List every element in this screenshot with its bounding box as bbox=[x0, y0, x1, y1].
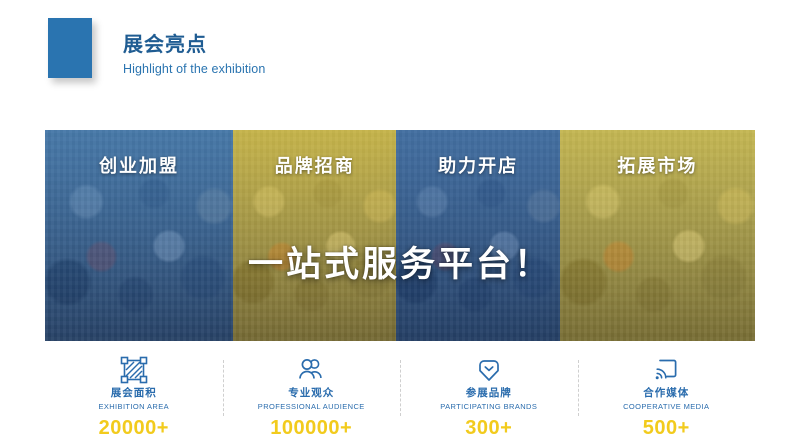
stat-label-en: EXHIBITION AREA bbox=[98, 402, 169, 412]
stat-participating-brands[interactable]: 参展品牌 PARTICIPATING BRANDS 300+ bbox=[400, 356, 578, 438]
highlight-panel-1[interactable]: 创业加盟 bbox=[45, 130, 233, 341]
stat-value: 20000+ bbox=[99, 416, 169, 440]
page-subtitle: Highlight of the exhibition bbox=[123, 60, 265, 78]
stat-label-en: PARTICIPATING BRANDS bbox=[440, 402, 537, 412]
highlight-panel-3[interactable]: 助力开店 bbox=[396, 130, 559, 341]
slide-root: 展会亮点 Highlight of the exhibition 创业加盟 品牌… bbox=[0, 0, 800, 448]
highlight-image-band: 创业加盟 品牌招商 助力开店 拓展市场 一站式服务平台！ bbox=[45, 130, 755, 341]
stat-label-cn: 合作媒体 bbox=[643, 387, 689, 400]
panel-label-4: 拓展市场 bbox=[560, 152, 755, 178]
participating-brands-icon bbox=[475, 356, 503, 384]
header-accent-bar bbox=[48, 18, 92, 78]
panel-label-1: 创业加盟 bbox=[45, 152, 233, 178]
stat-label-cn: 专业观众 bbox=[288, 387, 334, 400]
stat-professional-audience[interactable]: 专业观众 PROFESSIONAL AUDIENCE 100000+ bbox=[223, 356, 401, 438]
highlight-panel-2[interactable]: 品牌招商 bbox=[233, 130, 396, 341]
stats-row: 展会面积 EXHIBITION AREA 20000+ 专业观众 PROFESS… bbox=[45, 356, 755, 438]
stat-value: 300+ bbox=[465, 416, 512, 440]
panel-label-2: 品牌招商 bbox=[233, 152, 396, 178]
exhibition-area-icon bbox=[120, 356, 148, 384]
stat-label-cn: 展会面积 bbox=[111, 387, 157, 400]
stat-exhibition-area[interactable]: 展会面积 EXHIBITION AREA 20000+ bbox=[45, 356, 223, 438]
stat-cooperative-media[interactable]: 合作媒体 COOPERATIVE MEDIA 500+ bbox=[578, 356, 756, 438]
stat-value: 500+ bbox=[643, 416, 690, 440]
stat-label-cn: 参展品牌 bbox=[466, 387, 512, 400]
page-title: 展会亮点 bbox=[123, 32, 265, 58]
header-text-group: 展会亮点 Highlight of the exhibition bbox=[123, 32, 265, 78]
stat-value: 100000+ bbox=[270, 416, 352, 440]
cooperative-media-icon bbox=[652, 356, 680, 384]
stat-label-en: COOPERATIVE MEDIA bbox=[623, 402, 709, 412]
highlight-panel-4[interactable]: 拓展市场 bbox=[560, 130, 755, 341]
panel-label-3: 助力开店 bbox=[396, 152, 559, 178]
professional-audience-icon bbox=[297, 356, 325, 384]
stat-label-en: PROFESSIONAL AUDIENCE bbox=[258, 402, 365, 412]
